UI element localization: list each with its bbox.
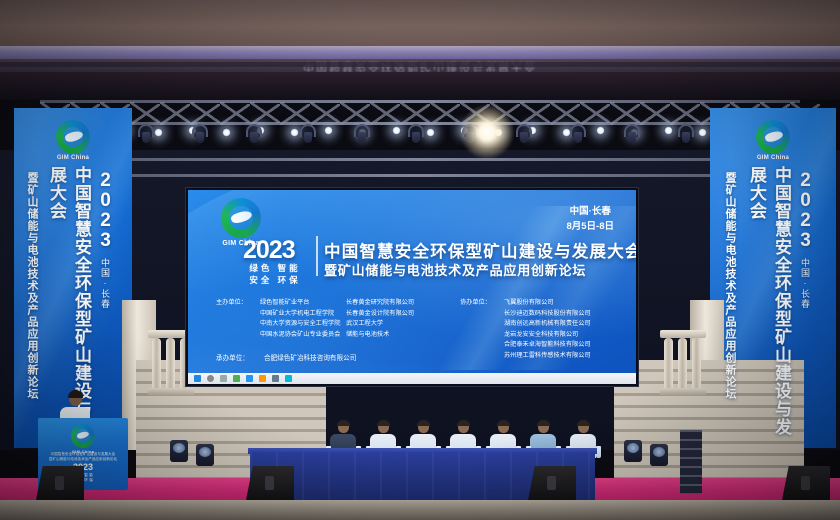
stage-monitor-speaker [528, 466, 576, 500]
supporters-label: 协办单位： [460, 298, 504, 309]
right-banner-logo: GIM China [744, 120, 802, 161]
screen-location: 中国·长春 [566, 204, 614, 219]
supporter-item: 湖南创远高新机械有限责任公司 [504, 319, 591, 330]
supporters-spacer [460, 340, 504, 351]
organizer-col2-item: 长春黄金研究院有限公司 [346, 298, 420, 309]
organizers-spacer [216, 309, 260, 320]
panelist-head [498, 421, 509, 433]
panelist-head [458, 421, 469, 433]
supporter-row: 苏州理工雷科传感技术有限公司 [460, 351, 591, 362]
truss-lattice-segment [520, 102, 550, 123]
organizer-col1-item: 中国水泥协会矿山专业委员会 [260, 330, 346, 341]
moving-head-light [246, 124, 262, 144]
conference-stage-photo: 中国智慧安全环保型矿山建设与发展大会 GIM China 2023 中国·长春 … [0, 0, 840, 520]
spotlight [154, 128, 163, 137]
supporter-item: 飞翼股份有限公司 [504, 298, 554, 309]
supporter-item: 长沙迪迈数码科技股份有限公司 [504, 309, 591, 320]
spotlight [392, 126, 401, 135]
stage-front-edge [0, 500, 840, 520]
screen-year: 2023 [243, 236, 295, 265]
truss-lattice-segment [550, 102, 580, 123]
truss-rail-bottom [40, 174, 800, 177]
panelist-head [578, 421, 589, 433]
screen-title-main: 中国智慧安全环保型矿山建设与发展大会 [324, 238, 636, 262]
truss-lattice-segment [280, 102, 310, 123]
moving-head-light [516, 124, 532, 144]
organizer-row: 中国水泥协会矿山专业委员会 储能与电池技术 [216, 330, 420, 341]
stage-monitor-speaker [782, 466, 830, 500]
supporters-spacer [460, 319, 504, 330]
screen-slogan: 绿色 智能 安全 环保 [238, 262, 312, 286]
podium-title-line2: 暨矿山储能与电池技术及产品应用创新论坛 [49, 456, 117, 461]
host-label: 承办单位： [216, 352, 264, 362]
organizer-col2-item: 储能与电池技术 [346, 330, 420, 341]
ceiling-beam-shadow [0, 62, 840, 67]
spotlight [222, 128, 231, 137]
truss-tower [680, 430, 702, 494]
truss-lattice-segment [310, 102, 340, 123]
organizer-col1-item: 中南大学资源与安全工程学院 [260, 319, 346, 330]
panelist-head [378, 421, 389, 433]
supporters-block: 协办单位： 飞翼股份有限公司 长沙迪迈数码科技股份有限公司 湖南创远高新机械有限… [460, 298, 591, 361]
supporter-item: 龙岩龙安安全科技有限公司 [504, 330, 578, 341]
truss-lattice-segment [190, 102, 220, 123]
mover-head [358, 132, 366, 143]
balustrade-post [152, 338, 161, 390]
main-led-screen: GIM China 2023 绿色 智能 安全 环保 中国智慧安全环保型矿山建设… [188, 190, 636, 384]
taskbar-start-icon[interactable] [194, 375, 201, 382]
spotlight [664, 126, 673, 135]
spotlight [596, 126, 605, 135]
podium-logo: GIM China [62, 424, 104, 454]
balustrade-base [148, 388, 194, 396]
balustrade-post [692, 338, 701, 390]
main-led-screen-frame: GIM China 2023 绿色 智能 安全 环保 中国智慧安全环保型矿山建设… [186, 188, 638, 386]
moving-head-light [192, 124, 208, 144]
gim-logo-icon [56, 120, 90, 154]
screen-title-sub: 暨矿山储能与电池技术及产品应用创新论坛 [324, 260, 586, 279]
gim-logo-text: GIM China [744, 155, 802, 161]
moving-head-light [300, 124, 316, 144]
spotlight [698, 128, 707, 137]
stage-wash-light [650, 444, 668, 466]
screen-slogan-line1: 绿色 智能 [238, 262, 312, 274]
right-vertical-banner: GIM China 2023 中国·长春 中国智慧安全环保型矿山建设与发展大会 … [710, 108, 836, 448]
supporter-row: 协办单位： 飞翼股份有限公司 [460, 298, 591, 309]
truss-lattice-segment [340, 102, 370, 123]
organizer-row: 中南大学资源与安全工程学院 武汉工程大学 [216, 319, 420, 330]
supporters-spacer [460, 351, 504, 362]
organizers-label: 主办单位： [216, 298, 260, 309]
gim-logo-icon [71, 424, 95, 448]
truss-lattice-segment [430, 102, 460, 123]
right-banner-year: 2023 [794, 170, 816, 250]
panelist-head [338, 421, 349, 433]
moving-head-light [408, 124, 424, 144]
screen-slogan-line2: 安全 环保 [238, 274, 312, 286]
taskbar-app-icon[interactable] [272, 375, 279, 382]
moving-head-light [354, 124, 370, 144]
left-banner-logo: GIM China [44, 120, 102, 161]
supporter-item: 苏州理工雷科传感技术有限公司 [504, 351, 591, 362]
organizer-row: 主办单位： 绿色智能矿业平台 长春黄金研究院有限公司 [216, 298, 420, 309]
mover-head [574, 132, 582, 143]
organizers-block: 主办单位： 绿色智能矿业平台 长春黄金研究院有限公司 中国矿业大学机电工程学院 … [216, 298, 420, 340]
truss-lattice-segment [610, 102, 640, 123]
organizer-row: 中国矿业大学机电工程学院 长春黄金设计院有限公司 [216, 309, 420, 320]
mover-head [250, 132, 258, 143]
stage-monitor-speaker [36, 466, 84, 500]
truss-lattice-segment [250, 102, 280, 123]
organizers-spacer [216, 330, 260, 341]
mover-head [682, 132, 690, 143]
moving-head-light [624, 124, 640, 144]
panelist-head [418, 421, 429, 433]
truss-lattice-segment [670, 102, 700, 123]
windows-taskbar[interactable] [188, 373, 636, 384]
supporters-spacer [460, 330, 504, 341]
stage-wash-light [170, 440, 188, 462]
lighting-truss [40, 96, 800, 178]
left-banner-subtitle: 暨矿山储能与电池技术及产品应用创新论坛 [24, 172, 40, 440]
mover-head [628, 132, 636, 143]
taskbar-app-icon[interactable] [233, 375, 240, 382]
supporter-row: 长沙迪迈数码科技股份有限公司 [460, 309, 591, 320]
organizer-col1-item: 绿色智能矿业平台 [260, 298, 346, 309]
truss-lattice-segment [580, 102, 610, 123]
taskbar-app-icon[interactable] [220, 375, 227, 382]
stage-wash-light [624, 440, 642, 462]
spotlight [290, 128, 299, 137]
mover-head [304, 132, 312, 143]
spotlight [324, 126, 333, 135]
gim-logo-text: GIM China [44, 155, 102, 161]
left-banner-city: 中国·长春 [99, 258, 112, 309]
host-value: 合肥绿色矿冶科技咨询有限公司 [264, 352, 356, 362]
mover-head [520, 132, 528, 143]
supporter-row: 合肥泰禾卓海智能科技有限公司 [460, 340, 591, 351]
taskbar-app-icon[interactable] [259, 375, 266, 382]
supporter-item: 合肥泰禾卓海智能科技有限公司 [504, 340, 591, 351]
truss-rail-lower [40, 158, 800, 161]
balustrade-right [660, 330, 706, 440]
spotlight [426, 128, 435, 137]
supporter-row: 龙岩龙安安全科技有限公司 [460, 330, 591, 341]
moving-head-light [138, 124, 154, 144]
organizer-col2-item: 武汉工程大学 [346, 319, 420, 330]
gim-logo-icon [221, 198, 261, 238]
truss-lattice-segment [220, 102, 250, 123]
balustrade-post [664, 338, 673, 390]
left-banner-year: 2023 [94, 170, 116, 250]
truss-lattice-segment [400, 102, 430, 123]
organizer-col2-item: 长春黄金设计院有限公司 [346, 309, 420, 320]
bright-spotlight-glow [460, 105, 514, 159]
organizers-spacer [216, 319, 260, 330]
moving-head-light [678, 124, 694, 144]
balustrade-rail [660, 330, 706, 338]
speaker-head [69, 392, 82, 406]
truss-lattice-segment [370, 102, 400, 123]
supporters-spacer [460, 309, 504, 320]
mover-head [142, 132, 150, 143]
taskbar-search-icon[interactable] [207, 375, 214, 382]
truss-lattice-segment [640, 102, 670, 123]
stage-monitor-speaker [246, 466, 294, 500]
mover-head [412, 132, 420, 143]
organizer-col1-item: 中国矿业大学机电工程学院 [260, 309, 346, 320]
right-banner-title: 中国智慧安全环保型矿山建设与发展大会 [744, 166, 794, 438]
right-banner-city: 中国·长春 [799, 258, 812, 309]
stage-wash-light [196, 444, 214, 466]
mover-head [196, 132, 204, 143]
screen-title-divider [316, 236, 318, 276]
moving-head-light [570, 124, 586, 144]
screen-location-block: 中国·长春 8月5日-8日 [566, 204, 614, 234]
gim-logo-icon [756, 120, 790, 154]
ceiling-light-beam [0, 46, 840, 59]
balustrade-post [678, 338, 687, 390]
truss-lattice-segment [160, 102, 190, 123]
host-block: 承办单位： 合肥绿色矿冶科技咨询有限公司 [216, 352, 356, 362]
right-banner-subtitle: 暨矿山储能与电池技术及产品应用创新论坛 [722, 172, 738, 442]
balustrade-base [660, 388, 706, 396]
balustrade-post [166, 338, 175, 390]
taskbar-app-icon[interactable] [285, 375, 292, 382]
truss-lattice-segment [130, 102, 160, 123]
panelist-head [538, 421, 549, 433]
screen-dates: 8月5日-8日 [566, 219, 614, 234]
taskbar-app-icon[interactable] [246, 375, 253, 382]
supporter-row: 湖南创远高新机械有限责任公司 [460, 319, 591, 330]
